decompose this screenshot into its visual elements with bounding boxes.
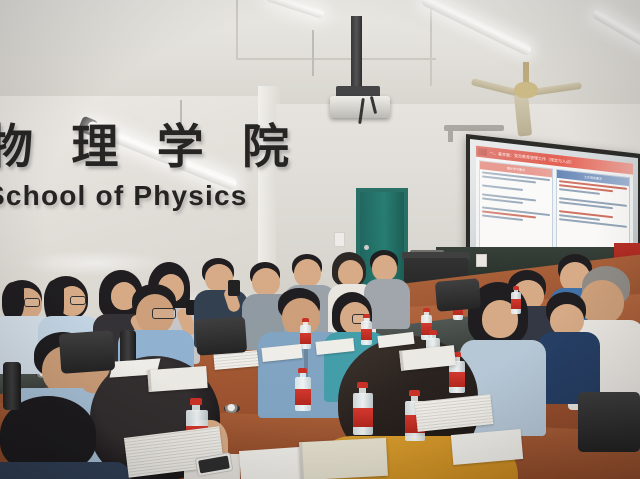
ceiling-seam-2 [430, 0, 432, 86]
notebook[interactable] [299, 438, 388, 479]
light-switch[interactable] [334, 232, 345, 247]
wall-reflection-1 [20, 250, 170, 276]
chair[interactable] [578, 392, 640, 452]
smartphone-screen [198, 455, 230, 473]
screen-mount-bracket [444, 125, 504, 131]
sign-english-text: School of Physics [0, 180, 276, 212]
paper-sheet[interactable] [451, 429, 523, 465]
door-handle[interactable] [364, 245, 369, 250]
thermos-flask[interactable] [3, 362, 21, 410]
screen-mount-arm [448, 128, 453, 142]
notebook[interactable] [147, 366, 207, 392]
sign-chinese-text: 物 理 学 院 [0, 122, 276, 174]
ceiling-fan-hub [514, 82, 538, 98]
chair[interactable] [435, 278, 481, 312]
wall-sign: 物 理 学 院 School of Physics [0, 122, 276, 234]
slide-column-left: 理论学习重点 [479, 160, 553, 260]
smartphone-held [228, 280, 240, 296]
ceiling-seam-3 [236, 58, 436, 60]
chair[interactable] [59, 330, 116, 374]
tube-hanger-right [312, 30, 314, 76]
slide-column-left-body [480, 169, 552, 259]
meeting-room-photo: 物 理 学 院 School of Physics 一、基本面：党员教育管理工作… [0, 0, 640, 479]
wall-outlet [476, 254, 487, 267]
table-cable-grommet [224, 404, 240, 413]
ceiling-fan-rod [523, 62, 529, 84]
chair[interactable] [195, 316, 247, 355]
projector-pole [351, 16, 362, 90]
ceiling-seam-1 [236, 0, 238, 60]
